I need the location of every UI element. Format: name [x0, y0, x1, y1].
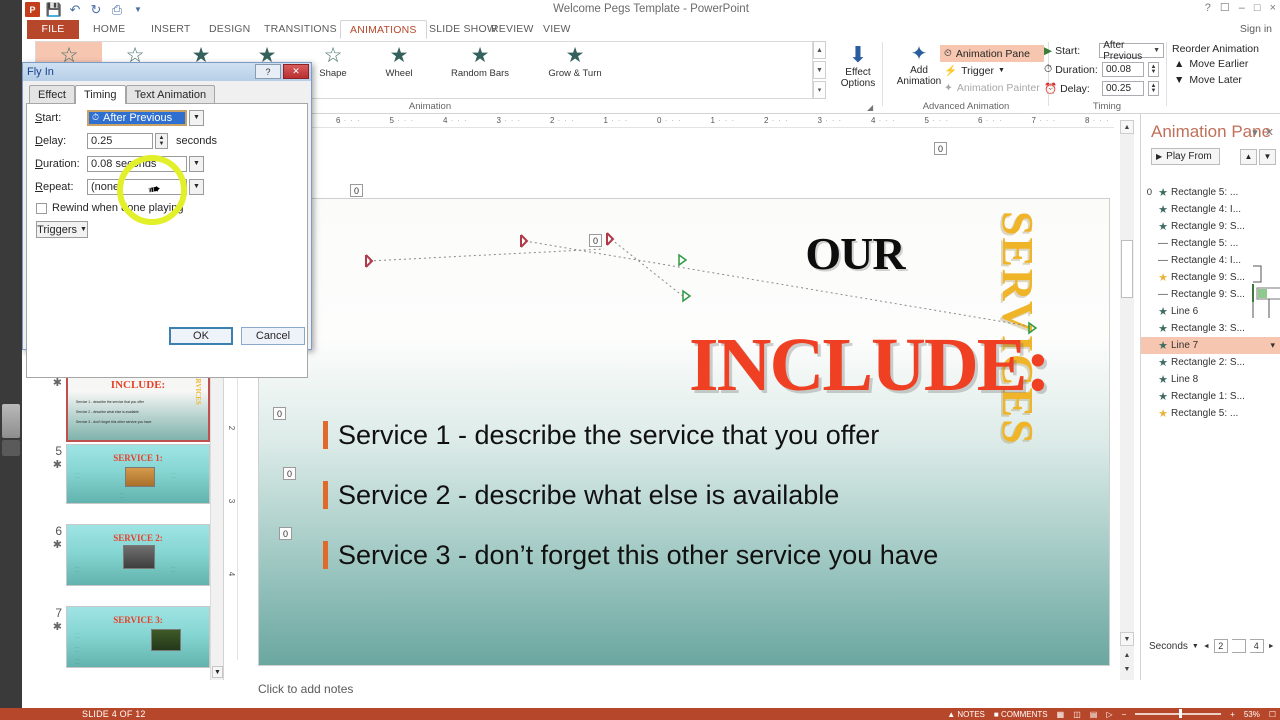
delay-spinner[interactable]: ▲▼ [1148, 81, 1159, 96]
bullet-marker [323, 541, 328, 569]
ruler-minor-tick: · [879, 116, 882, 125]
close-icon[interactable]: × [1270, 2, 1276, 14]
dialog-tab-text-animation[interactable]: Text Animation [126, 85, 216, 104]
animation-item-label: Rectangle 1: S... [1171, 391, 1245, 402]
animation-dialog-launcher-icon[interactable]: ◢ [867, 103, 873, 112]
thumb-title: SERVICE 2: [67, 533, 209, 543]
ruler-minor-tick: · [1106, 116, 1109, 125]
next-slide-icon[interactable]: ▼ [1120, 662, 1134, 676]
triggers-button[interactable]: Triggers ▼ [36, 221, 88, 238]
dialog-tabs[interactable]: Effect Timing Text Animation [23, 81, 311, 104]
triggers-label: Triggers [37, 224, 77, 236]
star-icon: ★ [1155, 322, 1171, 335]
slide-body[interactable]: Service 1 - describe the service that yo… [323, 405, 1043, 585]
ruler-minor-tick: · [624, 116, 627, 125]
start-combobox[interactable]: After Previous ▼ [1099, 43, 1164, 58]
animation-tag[interactable]: 0 [273, 407, 286, 420]
animation-list-item[interactable]: ★Rectangle 9: S... [1141, 218, 1280, 235]
repeat-dropdown-arrow-icon[interactable]: ▼ [189, 179, 204, 195]
slide-body-line[interactable]: Service 1 - describe the service that yo… [323, 405, 1043, 465]
gallery-item-label: Grow & Turn [548, 68, 601, 79]
ruler-minor-tick: · [511, 116, 514, 125]
gallery-item-wheel[interactable]: ★ Wheel [366, 42, 432, 98]
timeline-left-arrow-icon[interactable]: ◄ [1203, 643, 1210, 650]
group-label-timing: Timing [1044, 101, 1170, 112]
ruler-minor-tick: · [825, 116, 828, 125]
thumb-body-line: Service 2 - describe what else is availa… [76, 410, 139, 414]
animation-pane-footer[interactable]: Seconds ▼ ◄ 2 4 ► [1141, 636, 1280, 656]
line-icon: — [1155, 255, 1171, 266]
animation-item-label: Rectangle 4: I... [1171, 255, 1241, 266]
scroll-up-icon[interactable]: ▲ [1120, 120, 1134, 134]
thumb-image [125, 467, 155, 487]
start-value: After Previous [103, 112, 172, 124]
effect-options-button[interactable]: ⬇ Effect Options [834, 43, 882, 89]
thumb-number: 6 ✱ [44, 524, 66, 586]
slide-body-line[interactable]: Service 2 - describe what else is availa… [323, 465, 1043, 525]
ruler-minor-tick: · [731, 116, 734, 125]
timeline-right-arrow-icon[interactable]: ► [1268, 643, 1275, 650]
ruler-tick: 1 [711, 116, 715, 125]
move-later-button[interactable]: ▼ Move Later [1170, 72, 1261, 88]
move-later-label: Move Later [1189, 74, 1242, 86]
help-icon[interactable]: ? [1205, 2, 1211, 14]
paintbrush-icon: ✦ [944, 82, 953, 94]
animation-item-label: Rectangle 5: ... [1171, 408, 1238, 419]
move-earlier-button[interactable]: ▲ Move Earlier [1170, 56, 1261, 72]
ok-button[interactable]: OK [169, 327, 233, 345]
star-icon: ★ [1155, 186, 1171, 199]
window-title: Welcome Pegs Template - PowerPoint [22, 3, 1280, 15]
ruler-minor-tick: · [671, 116, 674, 125]
delay-spinner[interactable]: ▲▼ [155, 133, 168, 149]
horizontal-ruler: 7···6···5···4···3···2···1···0···1···2···… [258, 114, 1114, 128]
ruler-minor-tick: · [611, 116, 614, 125]
ruler-minor-tick: · [618, 116, 621, 125]
tab-file[interactable]: FILE [27, 20, 79, 39]
animation-pane-controls[interactable]: ▾ ✕ [1252, 126, 1274, 139]
ribbon-separator [1166, 42, 1167, 106]
ribbon-display-icon[interactable]: ☐ [1220, 1, 1230, 14]
delay-clock-icon: ⏰ [1044, 82, 1057, 95]
up-arrow-icon: ▲ [1174, 58, 1184, 70]
tab-transitions[interactable]: TRANSITIONS [255, 20, 346, 39]
chevron-down-icon[interactable]: ▼ [1192, 643, 1199, 650]
dialog-tab-timing[interactable]: Timing [75, 85, 126, 104]
ruler-tick: 5 [925, 116, 929, 125]
group-label-advanced: Advanced Animation [888, 101, 1044, 112]
animation-tag[interactable]: 0 [934, 142, 947, 155]
ruler-minor-tick: · [832, 116, 835, 125]
rewind-checkbox[interactable] [36, 203, 47, 214]
animation-list-item[interactable]: ★Rectangle 5: ... [1141, 405, 1280, 422]
start-value: After Previous [1103, 40, 1153, 62]
ruler-minor-tick: · [999, 116, 1002, 125]
ruler-tick: 4 [443, 116, 447, 125]
thumb-number-label: 7 [55, 606, 62, 620]
animation-item-label: Rectangle 9: S... [1171, 221, 1245, 232]
star-icon: ★ [1155, 305, 1171, 318]
dialog-title: Fly In [27, 66, 54, 78]
timeline-value-2[interactable]: 4 [1250, 639, 1264, 653]
dialog-footer[interactable]: OK Cancel [23, 327, 313, 345]
slide-body-text: Service 1 - describe the service that yo… [338, 420, 879, 451]
animation-list-item[interactable]: ★Rectangle 9: S... [1141, 269, 1280, 286]
star-icon: ★ [471, 46, 490, 66]
thumb-image [151, 629, 181, 651]
delay-input[interactable]: 0.25 [87, 133, 153, 149]
scroll-down-icon[interactable]: ▼ [212, 666, 223, 678]
gallery-more-icon[interactable]: ▾ [813, 81, 826, 99]
slide-title-big[interactable]: INCLUDE: [689, 322, 1049, 409]
list-item[interactable]: 6 ✱ SERVICE 2: ...... ...... ...... ....… [44, 524, 224, 586]
animation-item-label: Rectangle 5: ... [1171, 238, 1238, 249]
effect-options-label-2: Options [834, 78, 882, 89]
animation-item-label: Rectangle 3: S... [1171, 323, 1245, 334]
ruler-tick: 1 [604, 116, 608, 125]
minimize-icon[interactable]: – [1239, 2, 1245, 14]
ruler-minor-tick: · [785, 116, 788, 125]
slide-body-text: Service 3 - don’t forget this other serv… [338, 540, 938, 571]
ruler-minor-tick: · [1046, 116, 1049, 125]
ruler-minor-tick: · [1099, 116, 1102, 125]
ruler-minor-tick: · [558, 116, 561, 125]
close-icon[interactable]: ✕ [1265, 126, 1274, 139]
ruler-minor-tick: · [350, 116, 353, 125]
animation-tag[interactable]: 0 [350, 184, 363, 197]
thumb-body-line: Service 1 - describe the service that yo… [76, 400, 144, 404]
delay-unit-label: seconds [176, 135, 217, 147]
gallery-scroll-down-icon[interactable]: ▼ [813, 61, 826, 79]
title-bar: P 💾 ↶ ↻ ⎙ ▼ Welcome Pegs Template - Powe… [22, 0, 1280, 22]
move-down-icon[interactable]: ▼ [1259, 149, 1276, 165]
dialog-tab-effect[interactable]: Effect [29, 85, 75, 104]
ruler-minor-tick: · [517, 116, 520, 125]
ruler-tick: 2 [764, 116, 768, 125]
animation-item-label: Rectangle 4: I... [1171, 204, 1241, 215]
duration-label: Duration: [1055, 64, 1098, 76]
slide-edit-area[interactable]: SERVICES OUR INCLUDE: Service 1 - descri… [238, 128, 1114, 680]
star-icon: ★ [1155, 373, 1171, 386]
animation-star-icon: ✱ [44, 458, 62, 471]
timing-start-row[interactable]: ▶ Start: After Previous ▼ [1044, 41, 1164, 60]
normal-view-icon[interactable]: ▦ [1057, 710, 1065, 719]
animation-star-icon: ✱ [44, 538, 62, 551]
animation-list-item[interactable]: ★Rectangle 1: S... [1141, 388, 1280, 405]
ruler-minor-tick: · [504, 116, 507, 125]
reading-view-icon[interactable]: ▤ [1090, 710, 1098, 719]
delay-input[interactable]: 00.25 [1102, 81, 1144, 96]
ruler-minor-tick: · [932, 116, 935, 125]
play-from-label: Play From [1166, 151, 1212, 162]
move-earlier-label: Move Earlier [1189, 58, 1248, 70]
animation-item-label: Rectangle 9: S... [1171, 272, 1245, 283]
ruler-minor-tick: · [986, 116, 989, 125]
star-icon: ★ [1155, 339, 1171, 352]
play-icon: ▶ [1156, 152, 1162, 161]
animation-list-item[interactable]: ★Line 6 [1141, 303, 1280, 320]
seconds-label[interactable]: Seconds [1149, 641, 1188, 652]
thumb-headline: INCLUDE: [68, 379, 208, 391]
ruler-minor-tick: · [992, 116, 995, 125]
gallery-scroll-buttons[interactable]: ▲ ▼ ▾ [813, 41, 826, 99]
trigger-label: Trigger [961, 65, 994, 77]
slide-show-icon[interactable]: ▷ [1106, 710, 1112, 719]
ruler-tick: 0 [657, 116, 661, 125]
outer-scrollbar-thumb[interactable] [2, 404, 20, 438]
ruler-minor-tick: · [838, 116, 841, 125]
ruler-minor-tick: · [772, 116, 775, 125]
animation-list-item[interactable]: ★Rectangle 3: S... [1141, 320, 1280, 337]
thumb-number: 7 ✱ [44, 606, 66, 668]
bullet-marker [323, 421, 328, 449]
ribbon-separator [882, 42, 883, 106]
thumb-title: SERVICE 1: [67, 453, 209, 463]
ruler-tick: 2 [550, 116, 554, 125]
animation-item-index: 0 [1141, 187, 1155, 198]
animation-list[interactable]: 0★Rectangle 5: ...★Rectangle 4: I...★Rec… [1141, 184, 1280, 422]
ruler-minor-tick: · [885, 116, 888, 125]
dialog-help-button[interactable]: ? [255, 64, 281, 79]
slide-thumbnail-7[interactable]: SERVICE 3: ...... ...... ...... ...... .… [66, 606, 210, 668]
line-icon: — [1155, 289, 1171, 300]
animation-pane-label: Animation Pane [956, 48, 1030, 60]
dialog-close-button[interactable]: ✕ [283, 64, 309, 79]
ruler-minor-tick: · [357, 116, 360, 125]
chevron-down-icon: ▼ [1153, 47, 1163, 54]
slide-counter: SLIDE 4 OF 12 [82, 709, 146, 719]
clock-icon: ⏱ [92, 112, 99, 123]
ruler-tick: 3 [818, 116, 822, 125]
ruler-minor-tick: · [939, 116, 942, 125]
animation-item-label: Rectangle 9: S... [1171, 289, 1245, 300]
ruler-tick: 6 [978, 116, 982, 125]
animation-item-label: Line 8 [1171, 374, 1198, 385]
animation-pane[interactable]: Animation Pane ▾ ✕ ▶ Play From ▲ ▼ 0★Rec… [1140, 114, 1280, 680]
move-up-icon[interactable]: ▲ [1240, 149, 1257, 165]
ruler-minor-tick: · [344, 116, 347, 125]
status-bar[interactable]: SLIDE 4 OF 12 ▲ NOTES ■ COMMENTS ▦ ◫ ▤ ▷… [0, 708, 1280, 720]
tab-view[interactable]: VIEW [534, 20, 580, 39]
dialog-title-bar: Fly In ? ✕ [23, 63, 311, 81]
start-label-rest: tart: [42, 112, 61, 124]
start-label: Start: [1055, 45, 1080, 57]
bullet-marker [323, 481, 328, 509]
animation-list-item[interactable]: —Rectangle 4: I... [1141, 252, 1280, 269]
comments-button[interactable]: ■ COMMENTS [994, 710, 1048, 719]
duration-input[interactable]: 00.08 [1102, 62, 1144, 77]
ruler-minor-tick: · [404, 116, 407, 125]
animation-list-item[interactable]: ★Line 8 [1141, 371, 1280, 388]
gallery-item-grow-and-turn[interactable]: ★ Grow & Turn [528, 42, 622, 98]
scroll-down-icon[interactable]: ▼ [1120, 632, 1134, 646]
gallery-item-label: Shape [319, 68, 346, 79]
ruler-tick: 7 [1032, 116, 1036, 125]
ruler-minor-tick: · [725, 116, 728, 125]
start-dropdown-arrow-icon[interactable]: ▼ [189, 110, 204, 126]
timing-delay-row[interactable]: ⏰ Delay: 00.25 ▲▼ [1044, 79, 1164, 98]
ruler-minor-tick: · [410, 116, 413, 125]
timing-duration-row[interactable]: ⏱ Duration: 00.08 ▲▼ [1044, 60, 1164, 79]
zoom-level[interactable]: 53% [1244, 710, 1260, 719]
animation-painter-label: Animation Painter [957, 82, 1040, 94]
ruler-tick: 4 [871, 116, 875, 125]
slide-body-text: Service 2 - describe what else is availa… [338, 480, 839, 511]
thumb-title: SERVICE 3: [67, 615, 209, 625]
thumb-number: 5 ✱ [44, 444, 66, 504]
window-left-edge [0, 0, 22, 720]
animation-pane-toggle[interactable]: ⏲ Animation Pane [940, 45, 1044, 62]
list-item[interactable]: 7 ✱ SERVICE 3: ...... ...... ...... ....… [44, 606, 224, 668]
reorder-title: Reorder Animation [1170, 42, 1261, 56]
main-vertical-scrollbar[interactable]: ▲ ▼ ▲ ▼ [1120, 120, 1134, 680]
delay-label: Delay: [1060, 83, 1090, 95]
restore-icon[interactable]: □ [1254, 2, 1261, 14]
play-from-button[interactable]: ▶ Play From [1151, 148, 1220, 165]
star-icon: ★ [1155, 271, 1171, 284]
ruler-minor-tick: · [945, 116, 948, 125]
sign-in-button[interactable]: Sign in [1240, 23, 1272, 35]
previous-slide-icon[interactable]: ▲ [1120, 648, 1134, 662]
duration-spinner[interactable]: ▲▼ [1148, 62, 1159, 77]
slide-thumbnail-5[interactable]: SERVICE 1: ...... ...... ...... ...... .… [66, 444, 210, 504]
zoom-out-icon[interactable]: − [1121, 710, 1126, 719]
animation-list-item[interactable]: ★Line 7▾ [1141, 337, 1280, 354]
main-scroll-thumb[interactable] [1121, 240, 1133, 298]
list-item[interactable]: 5 ✱ SERVICE 1: ...... ...... ...... ....… [44, 444, 224, 504]
ruler-minor-tick: · [718, 116, 721, 125]
timeline-value-1[interactable]: 2 [1214, 639, 1228, 653]
start-dropdown[interactable]: ⏱ After Previous [87, 110, 187, 126]
ruler-minor-tick: · [451, 116, 454, 125]
ruler-minor-tick: · [678, 116, 681, 125]
ruler-minor-tick: · [564, 116, 567, 125]
gallery-item-label: Random Bars [451, 68, 509, 79]
slide-canvas[interactable]: SERVICES OUR INCLUDE: Service 1 - descri… [258, 198, 1110, 666]
timeline-spacer [1232, 639, 1246, 653]
ruler-minor-tick: · [665, 116, 668, 125]
slide-title-small[interactable]: OUR [805, 227, 904, 280]
ruler-minor-tick: · [778, 116, 781, 125]
effect-options-label-1: Effect [834, 67, 882, 78]
ruler-tick: 3 [227, 499, 236, 503]
thumb-number-label: 5 [55, 444, 62, 458]
lightning-icon: ⚡ [944, 64, 957, 77]
slide-body-line[interactable]: Service 3 - don’t forget this other serv… [323, 525, 1043, 585]
animation-item-label: Rectangle 2: S... [1171, 357, 1245, 368]
gallery-scroll-up-icon[interactable]: ▲ [813, 41, 826, 59]
ruler-tick: 6 [336, 116, 340, 125]
ruler-minor-tick: · [397, 116, 400, 125]
ruler-tick: 5 [390, 116, 394, 125]
slide-thumbnail-6[interactable]: SERVICE 2: ...... ...... ...... ...... [66, 524, 210, 586]
star-icon: ☆ [324, 46, 343, 66]
chevron-down-icon: ▼ [80, 226, 87, 233]
tab-insert[interactable]: INSERT [142, 20, 200, 39]
animation-list-item[interactable]: ★Rectangle 2: S... [1141, 354, 1280, 371]
star-icon: ★ [1155, 220, 1171, 233]
ruler-tick: 3 [497, 116, 501, 125]
ruler-tick: 2 [227, 426, 236, 430]
zoom-in-icon[interactable]: + [1230, 710, 1235, 719]
animation-list-item[interactable]: ★Rectangle 4: I... [1141, 201, 1280, 218]
ruler-minor-tick: · [1052, 116, 1055, 125]
star-icon: ★ [1155, 390, 1171, 403]
animation-list-item[interactable]: —Rectangle 5: ... [1141, 235, 1280, 252]
line-icon: — [1155, 238, 1171, 249]
thumb-image [123, 545, 155, 569]
animation-painter-button[interactable]: ✦ Animation Painter [940, 79, 1044, 96]
animation-list-item[interactable]: —Rectangle 9: S... [1141, 286, 1280, 303]
ruler-minor-tick: · [892, 116, 895, 125]
thumb-body-line: Service 3 - don’t forget this other serv… [76, 420, 151, 424]
timing-group: ▶ Start: After Previous ▼ ⏱ Duration: 00… [1044, 41, 1164, 98]
window-controls[interactable]: ? ☐ – □ × [1205, 1, 1276, 14]
thumb-number-label: 6 [55, 524, 62, 538]
ruler-minor-tick: · [457, 116, 460, 125]
dialog-start-row[interactable]: Start: ⏱ After Previous ▼ [35, 108, 307, 127]
clock-icon: ⏱ [1044, 63, 1052, 76]
play-icon: ▶ [1044, 45, 1052, 57]
ruler-minor-tick: · [1039, 116, 1042, 125]
ruler-tick: 8 [1085, 116, 1089, 125]
zoom-slider[interactable] [1135, 713, 1221, 715]
cancel-button[interactable]: Cancel [241, 327, 305, 345]
ruler-minor-tick: · [571, 116, 574, 125]
slide-sorter-icon[interactable]: ◫ [1073, 710, 1081, 719]
tab-home[interactable]: HOME [84, 20, 134, 39]
animation-item-label: Line 6 [1171, 306, 1198, 317]
star-icon: ★ [1155, 407, 1171, 420]
dialog-delay-row[interactable]: Delay: 0.25 ▲▼ seconds [35, 131, 307, 150]
animation-list-item[interactable]: 0★Rectangle 5: ... [1141, 184, 1280, 201]
fit-to-window-icon[interactable]: ☐ [1269, 710, 1276, 719]
animation-tag[interactable]: 0 [279, 527, 292, 540]
star-icon: ★ [1155, 203, 1171, 216]
animation-item-menu-icon[interactable]: ▾ [1270, 340, 1275, 351]
animation-tag[interactable]: 0 [589, 234, 602, 247]
animation-tag[interactable]: 0 [283, 467, 296, 480]
reorder-animation-group: Reorder Animation ▲ Move Earlier ▼ Move … [1170, 42, 1261, 88]
tab-design[interactable]: DESIGN [200, 20, 259, 39]
chevron-down-icon[interactable]: ▾ [1252, 126, 1258, 139]
trigger-button[interactable]: ⚡ Trigger ▼ [940, 62, 1044, 79]
ribbon-tab-strip[interactable]: FILE HOME INSERT DESIGN TRANSITIONS ANIM… [22, 20, 1280, 39]
animation-item-label: Rectangle 5: ... [1171, 187, 1238, 198]
down-arrow-icon: ▼ [1174, 74, 1184, 86]
star-icon: ★ [390, 46, 409, 66]
tab-animations[interactable]: ANIMATIONS [340, 20, 427, 39]
star-icon: ★ [1155, 356, 1171, 369]
down-arrow-icon: ⬇ [834, 43, 882, 67]
notes-placeholder[interactable]: Click to add notes [238, 672, 1114, 712]
notes-button[interactable]: ▲ NOTES [947, 710, 985, 719]
animation-star-icon: ✱ [44, 620, 62, 633]
outer-scrollbar-track[interactable] [2, 440, 20, 456]
animation-pane-icon: ⏲ [944, 48, 952, 59]
duration-dropdown-arrow-icon[interactable]: ▼ [189, 156, 204, 172]
animation-item-label: Line 7 [1171, 340, 1198, 351]
gallery-item-random-bars[interactable]: ★ Random Bars [432, 42, 528, 98]
ruler-minor-tick: · [464, 116, 467, 125]
ruler-tick: 4 [227, 571, 236, 575]
chevron-down-icon: ▼ [998, 67, 1005, 74]
ruler-minor-tick: · [1093, 116, 1096, 125]
gallery-item-label: Wheel [386, 68, 413, 79]
star-icon: ★ [566, 46, 585, 66]
